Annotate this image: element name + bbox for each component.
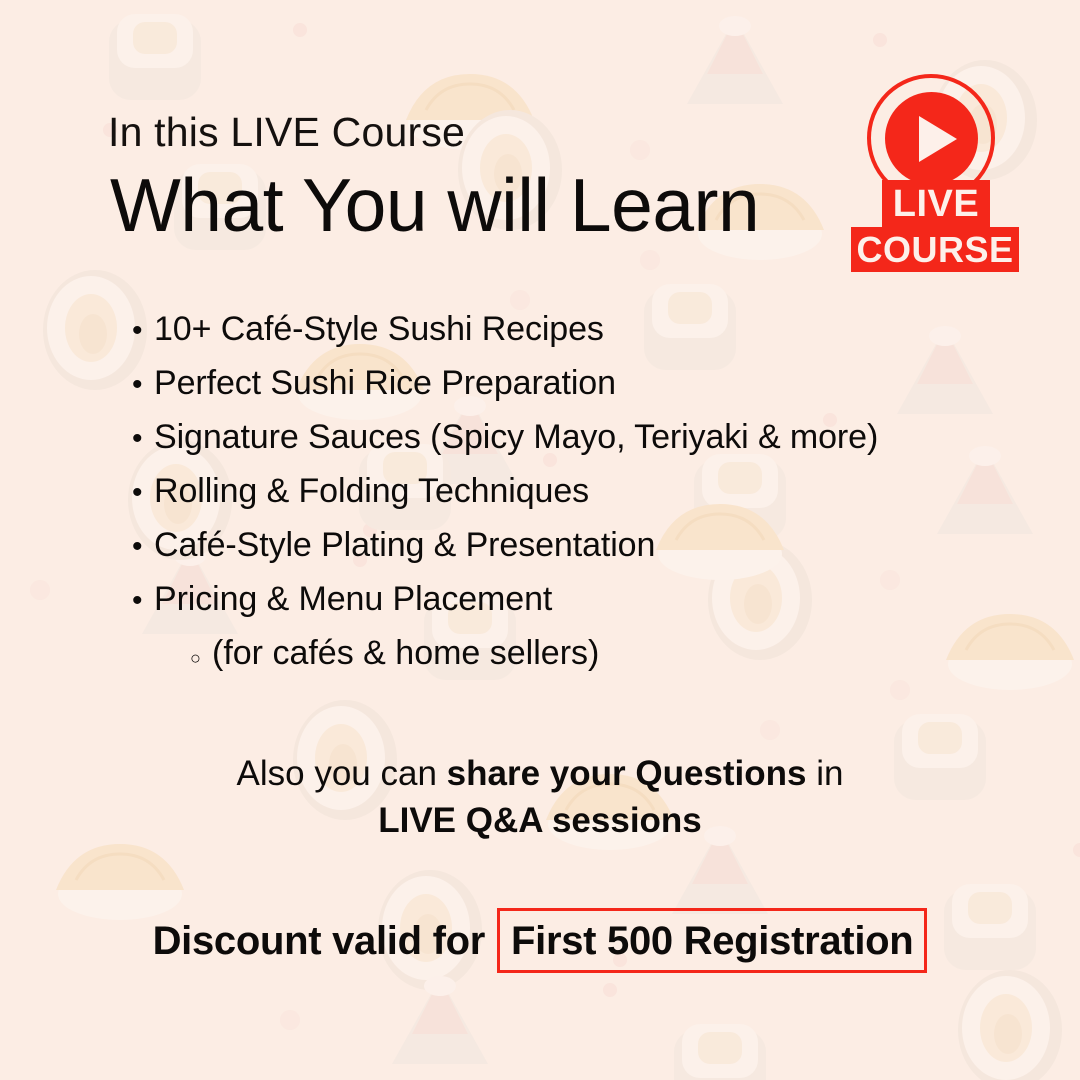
list-item: • Pricing & Menu Placement	[132, 582, 992, 636]
bullet-marker-icon: •	[132, 316, 154, 346]
discount-highlight-box: First 500 Registration	[497, 908, 927, 973]
list-item: • Perfect Sushi Rice Preparation	[132, 366, 992, 420]
bullet-marker-icon: •	[132, 478, 154, 508]
qa-note: Also you can share your Questions in LIV…	[0, 750, 1080, 845]
play-icon	[919, 116, 957, 162]
qa-note-bold2: LIVE Q&A sessions	[378, 801, 702, 840]
bullet-marker-icon: •	[132, 370, 154, 400]
discount-strip: Discount valid for First 500 Registratio…	[0, 908, 1080, 973]
badge-course-label: COURSE	[856, 232, 1013, 268]
list-item-label: Café-Style Plating & Presentation	[154, 528, 655, 562]
qa-note-part1: Also you can	[237, 754, 447, 793]
sub-list-item-label: (for cafés & home sellers)	[212, 636, 599, 670]
discount-lead-label: Discount valid for	[153, 921, 497, 961]
badge-bar-course: COURSE	[851, 227, 1019, 272]
badge-bar-live: LIVE	[882, 180, 990, 227]
eyebrow-text: In this LIVE Course	[108, 112, 465, 153]
page-title: What You will Learn	[110, 166, 759, 245]
bullet-marker-icon: •	[132, 532, 154, 562]
list-item: • Café-Style Plating & Presentation	[132, 528, 992, 582]
list-item-label: Rolling & Folding Techniques	[154, 474, 589, 508]
list-item-label: Perfect Sushi Rice Preparation	[154, 366, 616, 400]
list-item: • 10+ Café-Style Sushi Recipes	[132, 312, 992, 366]
list-item-label: 10+ Café-Style Sushi Recipes	[154, 312, 604, 346]
live-course-badge: LIVE COURSE	[851, 74, 1019, 270]
list-item: • Rolling & Folding Techniques	[132, 474, 992, 528]
sub-list-item: ○ (for cafés & home sellers)	[132, 636, 992, 690]
list-item-label: Signature Sauces (Spicy Mayo, Teriyaki &…	[154, 420, 878, 454]
bullet-marker-icon: •	[132, 586, 154, 616]
poster-canvas: In this LIVE Course What You will Learn …	[0, 0, 1080, 1080]
list-item: • Signature Sauces (Spicy Mayo, Teriyaki…	[132, 420, 992, 474]
badge-live-label: LIVE	[893, 185, 979, 223]
sub-bullet-marker-icon: ○	[190, 649, 212, 667]
qa-note-part2: in	[806, 754, 843, 793]
learn-list: • 10+ Café-Style Sushi Recipes • Perfect…	[132, 312, 992, 690]
qa-note-bold1: share your Questions	[447, 754, 807, 793]
bullet-marker-icon: •	[132, 424, 154, 454]
discount-highlight-label: First 500 Registration	[511, 921, 913, 961]
list-item-label: Pricing & Menu Placement	[154, 582, 552, 616]
